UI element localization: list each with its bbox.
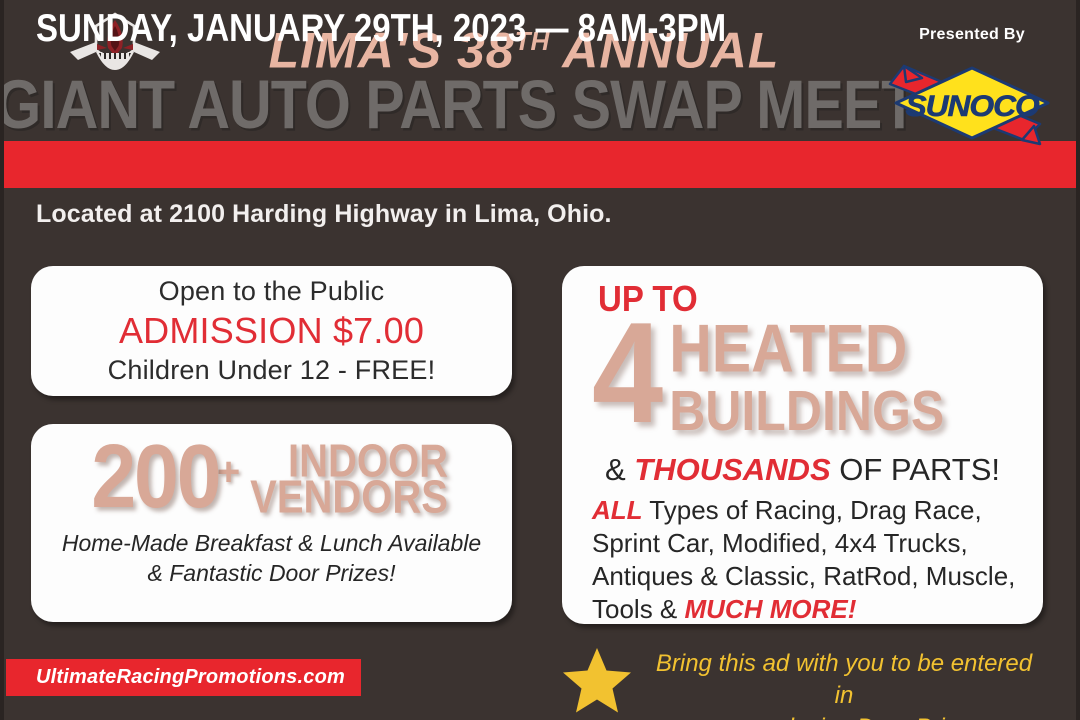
thousands-of-parts-line: & THOUSANDS OF PARTS!: [562, 452, 1043, 488]
vendors-headline: 200 + INDOOR VENDORS: [31, 424, 512, 520]
parts-list-all: ALL: [592, 495, 643, 525]
website-url-badge[interactable]: UltimateRacingPromotions.com: [6, 659, 361, 696]
vendors-card: 200 + INDOOR VENDORS Home-Made Breakfast…: [31, 424, 512, 622]
buildings-count: 4: [592, 310, 659, 438]
vendors-plus-sign: +: [217, 452, 240, 492]
thousands-prefix: &: [605, 452, 634, 487]
vendors-word-vendors: VENDORS: [250, 477, 448, 518]
buildings-headline: 4 HEATED BUILDINGS: [592, 310, 1022, 432]
sponsor-block: Presented By SUNOCO: [882, 26, 1062, 158]
parts-list-much-more: MUCH MORE!: [685, 594, 857, 624]
admission-open-to-public: Open to the Public: [31, 276, 512, 307]
vendors-words: INDOOR VENDORS: [250, 446, 448, 520]
event-location-text: Located at 2100 Harding Highway in Lima,…: [36, 200, 612, 229]
thousands-emphasis: THOUSANDS: [634, 452, 830, 487]
vendors-count: 200: [91, 435, 219, 520]
buildings-word-heated: HEATED: [669, 318, 944, 380]
page-title-line2: GIANT AUTO PARTS SWAP MEET: [0, 68, 893, 144]
buildings-words: HEATED BUILDINGS: [669, 318, 944, 432]
sponsor-label: Presented By: [882, 26, 1062, 44]
flyer-root: LIMA'S 38TH ANNUAL GIANT AUTO PARTS SWAP…: [0, 0, 1080, 720]
admission-price: ADMISSION $7.00: [31, 310, 512, 352]
vendors-subtext: Home-Made Breakfast & Lunch Available & …: [31, 528, 512, 588]
vendors-subtext-line2: & Fantastic Door Prizes!: [31, 558, 512, 588]
door-prize-line1: Bring this ad with you to be entered in: [644, 648, 1044, 712]
star-icon: [560, 645, 634, 717]
buildings-card: UP TO 4 HEATED BUILDINGS & THOUSANDS OF …: [562, 266, 1043, 624]
sunoco-logo-icon: SUNOCO: [882, 48, 1062, 158]
buildings-word-buildings: BUILDINGS: [669, 382, 944, 439]
vendors-subtext-line1: Home-Made Breakfast & Lunch Available: [31, 528, 512, 558]
door-prize-line2: an exclusive Door Prize: [644, 712, 1044, 720]
event-date-text: SUNDAY, JANUARY 29TH, 2023 — 8AM-3PM: [36, 3, 726, 53]
door-prize-note: Bring this ad with you to be entered in …: [644, 648, 1044, 720]
parts-list-text: ALL Types of Racing, Drag Race, Sprint C…: [592, 494, 1022, 626]
admission-children-note: Children Under 12 - FREE!: [31, 355, 512, 386]
svg-text:SUNOCO: SUNOCO: [906, 89, 1040, 123]
thousands-suffix: OF PARTS!: [831, 452, 1000, 487]
admission-card: Open to the Public ADMISSION $7.00 Child…: [31, 266, 512, 396]
